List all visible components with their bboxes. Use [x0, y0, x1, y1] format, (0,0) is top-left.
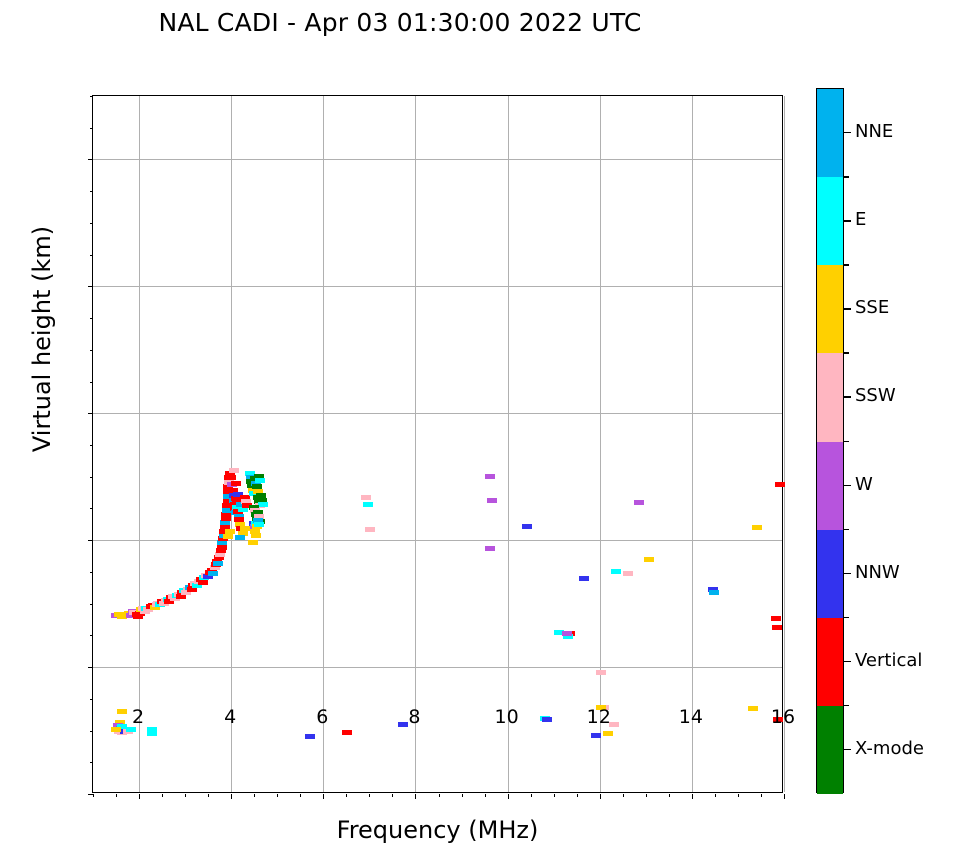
y-tick-minor — [90, 635, 93, 636]
colorbar-boundary-tick — [844, 441, 849, 442]
colorbar-boundary-tick — [844, 176, 849, 177]
colorbar-tick — [844, 220, 851, 221]
echo-marks — [93, 96, 782, 792]
x-tick — [231, 794, 232, 799]
echo-mark — [255, 478, 265, 483]
colorbar-label-nne: NNE — [855, 121, 893, 142]
echo-mark — [126, 727, 136, 732]
colorbar-band-nne[interactable] — [817, 89, 843, 177]
colorbar-band-nnw[interactable] — [817, 530, 843, 618]
x-tick-minor — [761, 794, 762, 797]
colorbar-band-ssw[interactable] — [817, 353, 843, 441]
x-tick-minor — [162, 794, 163, 797]
x-tick — [692, 794, 693, 799]
echo-mark — [305, 734, 315, 739]
echo-mark — [623, 571, 633, 576]
colorbar-boundary-tick — [844, 529, 849, 530]
x-tick-label: 16 — [753, 706, 813, 728]
x-tick-minor — [254, 794, 255, 797]
echo-mark — [562, 631, 572, 636]
echo-mark — [487, 498, 497, 503]
colorbar-label-ssw: SSW — [855, 385, 896, 406]
colorbar-label-e: E — [855, 209, 866, 230]
y-tick-minor — [90, 223, 93, 224]
x-tick-minor — [277, 794, 278, 797]
echo-mark — [147, 731, 157, 736]
colorbar-band-e[interactable] — [817, 177, 843, 265]
y-tick-minor — [90, 382, 93, 383]
y-axis-label: Virtual height (km) — [28, 179, 56, 499]
colorbar-band-sse[interactable] — [817, 265, 843, 353]
y-tick — [88, 159, 93, 160]
echo-mark — [522, 524, 532, 529]
plot-title: NAL CADI - Apr 03 01:30:00 2022 UTC — [0, 8, 800, 37]
colorbar-label-nnw: NNW — [855, 562, 900, 583]
colorbar-tick — [844, 308, 851, 309]
y-tick-minor — [90, 477, 93, 478]
echo-mark — [709, 590, 719, 595]
y-tick-minor — [90, 508, 93, 509]
colorbar-tick — [844, 661, 851, 662]
echo-mark — [771, 616, 781, 621]
x-tick-label: 2 — [108, 706, 168, 728]
x-tick — [784, 794, 785, 799]
colorbar-band-w[interactable] — [817, 442, 843, 530]
echo-mark — [365, 527, 375, 532]
colorbar-tick — [844, 485, 851, 486]
colorbar-boundary-tick — [844, 705, 849, 706]
x-tick-minor — [300, 794, 301, 797]
echo-mark — [591, 733, 601, 738]
echo-mark — [198, 580, 208, 585]
colorbar-tick — [844, 573, 851, 574]
colorbar-label-sse: SSE — [855, 297, 889, 318]
x-tick-minor — [531, 794, 532, 797]
colorbar-label-x-mode: X-mode — [855, 738, 924, 759]
x-tick-minor — [623, 794, 624, 797]
x-axis-label: Frequency (MHz) — [92, 816, 783, 844]
echo-mark — [254, 522, 264, 527]
echo-mark — [235, 535, 245, 540]
echo-mark — [542, 717, 552, 722]
echo-mark — [342, 730, 352, 735]
x-tick — [508, 794, 509, 799]
y-tick-minor — [90, 318, 93, 319]
colorbar-boundary-tick — [844, 617, 849, 618]
echo-mark — [226, 475, 236, 480]
colorbar-tick — [844, 396, 851, 397]
x-tick-minor — [116, 794, 117, 797]
y-tick — [88, 286, 93, 287]
x-tick-minor — [577, 794, 578, 797]
y-tick — [88, 667, 93, 668]
echo-mark — [596, 670, 606, 675]
echo-mark — [603, 731, 613, 736]
y-tick-minor — [90, 255, 93, 256]
echo-mark — [644, 557, 654, 562]
echo-mark — [485, 546, 495, 551]
x-tick-label: 12 — [569, 706, 629, 728]
x-tick-minor — [485, 794, 486, 797]
echo-mark — [221, 516, 231, 521]
colorbar-tick — [844, 132, 851, 133]
x-tick — [323, 794, 324, 799]
echo-mark — [213, 561, 223, 566]
echo-mark — [772, 625, 782, 630]
y-tick — [88, 540, 93, 541]
x-tick-minor — [738, 794, 739, 797]
echo-mark — [229, 468, 239, 473]
x-tick-minor — [439, 794, 440, 797]
x-tick-minor — [185, 794, 186, 797]
echo-mark — [361, 495, 371, 500]
y-tick-minor — [90, 572, 93, 573]
y-tick-minor — [90, 604, 93, 605]
y-tick — [88, 413, 93, 414]
y-tick-minor — [90, 191, 93, 192]
echo-mark — [248, 540, 258, 545]
echo-mark — [363, 502, 373, 507]
echo-mark — [251, 533, 261, 538]
colorbar-band-x-mode[interactable] — [817, 706, 843, 794]
x-tick-minor — [554, 794, 555, 797]
echo-mark — [217, 545, 227, 550]
echo-mark — [579, 576, 589, 581]
y-tick-minor — [90, 699, 93, 700]
echo-mark — [775, 482, 785, 487]
x-tick-label: 10 — [477, 706, 537, 728]
y-tick — [88, 794, 93, 795]
colorbar-boundary-tick — [844, 264, 849, 265]
y-tick-minor — [90, 96, 93, 97]
x-tick-minor — [462, 794, 463, 797]
x-tick-minor — [669, 794, 670, 797]
x-tick — [139, 794, 140, 799]
echo-mark — [223, 534, 233, 539]
x-tick — [600, 794, 601, 799]
gridline-vertical — [784, 96, 785, 792]
colorbar[interactable] — [816, 88, 844, 793]
colorbar-label-w: W — [855, 474, 873, 495]
echo-mark — [208, 571, 218, 576]
colorbar-band-vertical[interactable] — [817, 618, 843, 706]
y-tick-minor — [90, 731, 93, 732]
echo-mark — [611, 569, 621, 574]
ionogram-figure: NAL CADI - Apr 03 01:30:00 2022 UTC 2468… — [0, 0, 958, 857]
x-tick-minor — [392, 794, 393, 797]
x-tick-label: 8 — [384, 706, 444, 728]
plot-area[interactable] — [92, 95, 783, 793]
x-tick-label: 14 — [661, 706, 721, 728]
y-tick-minor — [90, 762, 93, 763]
x-tick-minor — [208, 794, 209, 797]
y-tick-minor — [90, 445, 93, 446]
echo-mark — [752, 525, 762, 530]
x-tick-label: 6 — [292, 706, 352, 728]
echo-mark — [634, 500, 644, 505]
echo-mark — [485, 474, 495, 479]
colorbar-tick — [844, 749, 851, 750]
colorbar-label-vertical: Vertical — [855, 650, 922, 671]
x-tick-minor — [346, 794, 347, 797]
x-tick-minor — [93, 794, 94, 797]
x-tick-minor — [715, 794, 716, 797]
y-tick-minor — [90, 128, 93, 129]
x-tick-minor — [369, 794, 370, 797]
y-tick-minor — [90, 350, 93, 351]
x-tick-label: 4 — [200, 706, 260, 728]
x-tick-minor — [646, 794, 647, 797]
x-tick — [415, 794, 416, 799]
colorbar-boundary-tick — [844, 352, 849, 353]
echo-mark — [231, 481, 241, 486]
